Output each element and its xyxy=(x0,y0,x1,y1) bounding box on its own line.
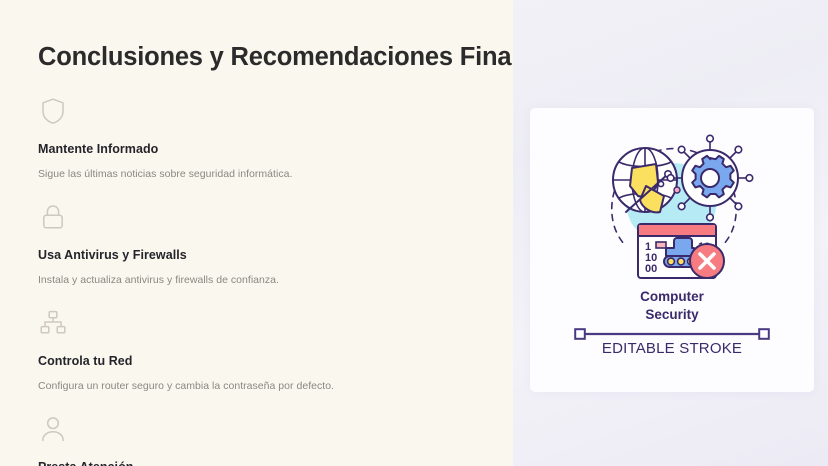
editable-stroke-label: EDITABLE STROKE xyxy=(530,340,814,357)
list-item-heading: Presta Atención xyxy=(38,460,513,466)
slide-root: Conclusiones y Recomendaciones Finales M… xyxy=(0,0,828,466)
illustration-card: 1 10 00 10 xyxy=(530,108,814,392)
lock-icon xyxy=(38,202,68,232)
user-icon xyxy=(38,414,68,444)
illustration-title-line1: Computer xyxy=(640,289,704,304)
recommendations-list: Mantente Informado Sigue las últimas not… xyxy=(0,96,513,466)
list-item-heading: Usa Antivirus y Firewalls xyxy=(38,248,513,262)
network-icon xyxy=(38,308,68,338)
illustration-title: Computer Security xyxy=(530,288,814,324)
content-panel: Conclusiones y Recomendaciones Finales M… xyxy=(0,0,513,466)
computer-security-illustration: 1 10 00 10 xyxy=(582,134,762,286)
stroke-rule xyxy=(574,327,770,339)
shield-icon xyxy=(38,96,68,126)
list-item: Presta Atención xyxy=(0,414,513,466)
illustration-panel: 1 10 00 10 xyxy=(513,0,828,466)
list-item-description: Sigue las últimas noticias sobre segurid… xyxy=(38,168,513,180)
list-item: Usa Antivirus y Firewalls Instala y actu… xyxy=(0,202,513,286)
page-title: Conclusiones y Recomendaciones Finales xyxy=(38,43,513,72)
list-item-heading: Mantente Informado xyxy=(38,142,513,156)
svg-text:00: 00 xyxy=(645,263,657,275)
list-item: Controla tu Red Configura un router segu… xyxy=(0,308,513,392)
list-item: Mantente Informado Sigue las últimas not… xyxy=(0,96,513,180)
list-item-description: Configura un router seguro y cambia la c… xyxy=(38,380,513,392)
illustration-title-line2: Security xyxy=(645,307,698,322)
list-item-heading: Controla tu Red xyxy=(38,354,513,368)
list-item-description: Instala y actualiza antivirus y firewall… xyxy=(38,274,513,286)
